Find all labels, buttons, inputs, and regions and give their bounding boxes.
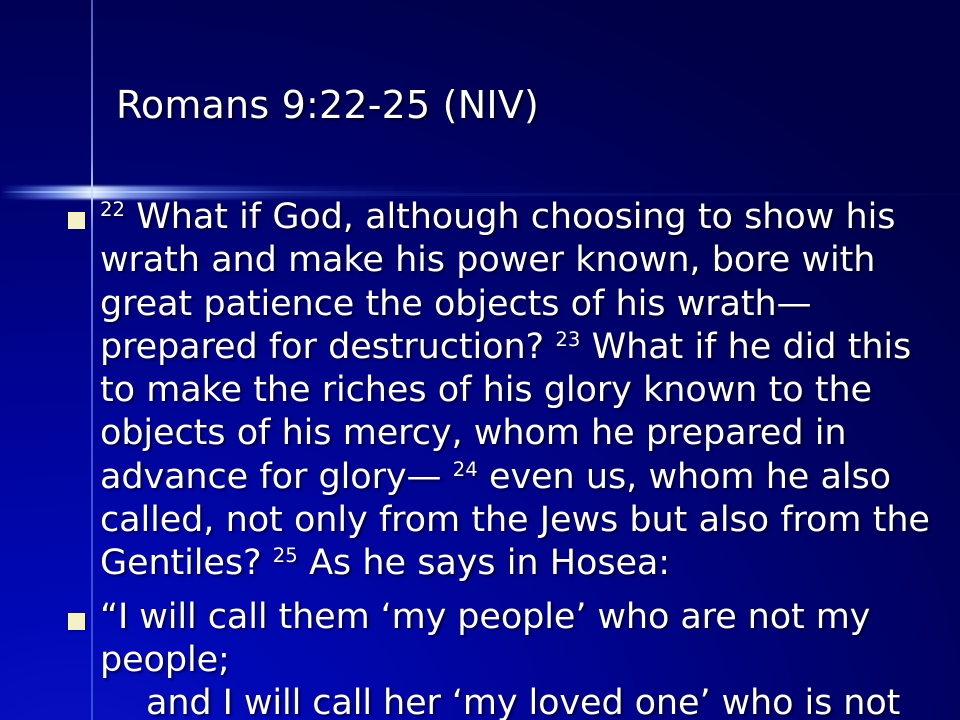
- bullet-square-icon: [68, 212, 85, 229]
- scripture-paragraph: 22 What if God, although choosing to sho…: [100, 196, 952, 586]
- verse-number-22: 22: [100, 198, 125, 221]
- quote-line-1: “I will call them ‘my people’ who are no…: [100, 597, 870, 680]
- bullet-square-icon: [68, 613, 85, 630]
- verse-number-24: 24: [453, 458, 478, 481]
- verse-number-25: 25: [273, 544, 298, 567]
- slide-title: Romans 9:22-25 (NIV): [116, 82, 539, 128]
- presentation-slide: Romans 9:22-25 (NIV) 22 What if God, alt…: [0, 0, 960, 720]
- slide-body: 22 What if God, although choosing to sho…: [0, 196, 960, 720]
- quote-line-2: and I will call her ‘my loved one’ who i…: [100, 682, 952, 720]
- list-item: “I will call them ‘my people’ who are no…: [0, 596, 960, 720]
- list-item: 22 What if God, although choosing to sho…: [0, 196, 960, 586]
- horizontal-accent-line-core: [0, 191, 470, 193]
- verse-number-23: 23: [555, 328, 580, 351]
- verse-text-25: As he says in Hosea:: [309, 543, 670, 583]
- hosea-quotation: “I will call them ‘my people’ who are no…: [100, 596, 952, 720]
